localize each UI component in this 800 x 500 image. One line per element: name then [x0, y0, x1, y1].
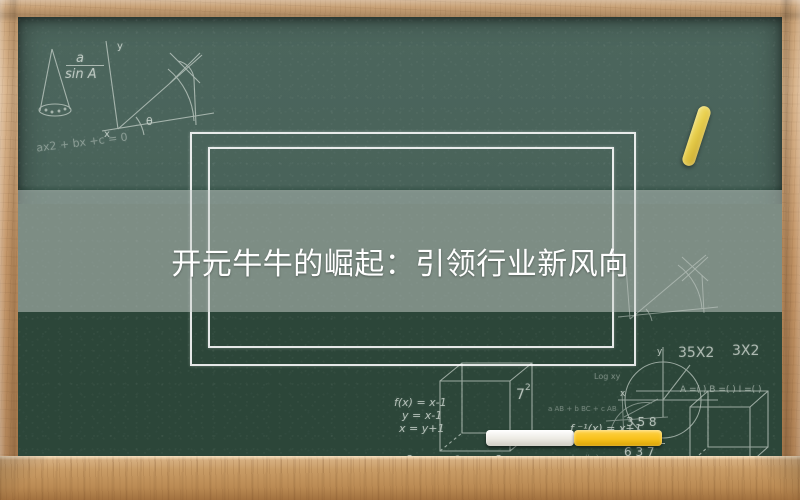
banner-image: a sin A y x θ ax2 + bx +c = 0 f(x) = x-1…	[0, 0, 800, 500]
white-chalk-stick[interactable]	[486, 430, 574, 446]
chalk-axis-x-label: x	[104, 129, 110, 140]
chalk-fraction-numerator: a	[76, 51, 84, 66]
ledge-highlight	[0, 456, 800, 460]
chalk-angle-label: θ	[146, 115, 153, 128]
page-title: 开元牛牛的崛起：引领行业新风向	[18, 245, 782, 285]
chalk-fraction-bar	[66, 65, 104, 66]
yellow-chalk-stick-tray[interactable]	[574, 430, 662, 446]
ledge-wood-grain	[0, 456, 800, 500]
ledge-miter-left	[0, 456, 46, 500]
ledge-miter-right	[754, 456, 800, 500]
chalk-quadratic-equation: ax2 + bx +c = 0	[36, 130, 129, 154]
chalk-fraction-denominator: sin A	[65, 67, 97, 82]
chalk-ledge	[0, 456, 800, 500]
chalk-axis-y-label: y	[117, 41, 123, 52]
yellow-chalk-stick-angled[interactable]	[681, 105, 713, 168]
chalkboard: a sin A y x θ ax2 + bx +c = 0 f(x) = x-1…	[18, 17, 782, 458]
